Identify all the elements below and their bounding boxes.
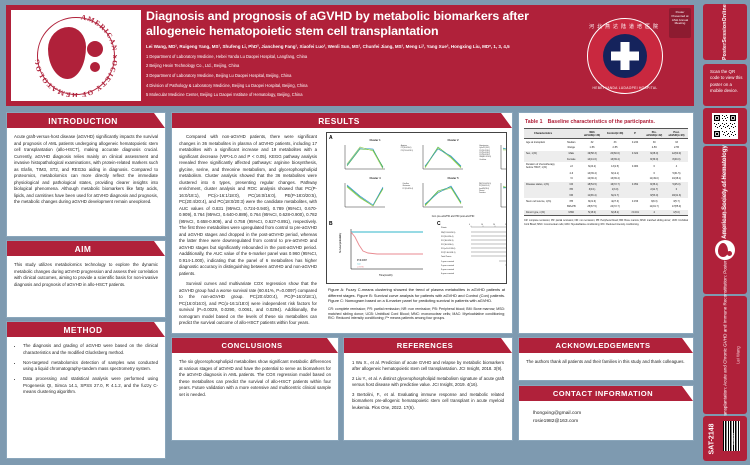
ash-mark-dot-small [90,62,100,72]
introduction-body: Acute graft-versus-host disease (aGVHD) … [7,128,165,212]
legend-entry: PC(20:4/20:4) [402,188,413,190]
conclusions-panel: CONCLUSIONS The six glycerophospholipid … [171,337,339,441]
conclusions-banner: CONCLUSIONS [172,338,338,353]
ash-mark-dot-large [87,41,103,57]
references-panel: REFERENCES 1 Wu X., et al. Prediction of… [343,337,513,441]
cluster-title: Cluster 3 [493,139,507,142]
cluster-chart-4: Cluster 4 Citrulline Glutamine [337,177,413,213]
svg-text:PE(P-18:0/20:5): PE(P-18:0/20:5) [441,232,456,234]
author-list: Lei Wang, MD¹, Ruigeng Yang, MS¹, Shufen… [146,44,546,51]
legend-entry: Carnitine [479,192,491,194]
table-row: Duration of chemotherapy before HSCT, n(… [524,162,688,171]
hospital-cross-disc [603,34,647,78]
conclusions-body: The six glycerophospholipid metabolites … [172,353,338,404]
svg-text:1-year survival: 1-year survival [441,261,455,263]
contact-heading: CONTACT INFORMATION [553,389,653,398]
reference-item: 1 Wu X., et al. Prediction of acute GVHD… [352,360,504,373]
cluster-chart-2: Cluster 2 Hypotaurine LysoPC(18:2) [415,139,491,175]
svg-text:PC(20:4/20:4): PC(20:4/20:4) [441,236,454,238]
cluster-plot-3 [493,143,507,175]
results-figure-area: A Cluster 1 [324,128,512,333]
nomogram-plot: Points PE(P-18:0/20:5) PC(20:4/20:4) PC(… [439,223,507,279]
postersessiononline-badge: PosterSessionOnline [703,4,747,60]
ash-society-logo: AMERICAN SOCIETY OF HEMATOLOGY [11,10,141,101]
svg-text:aGVHD: aGVHD [357,267,365,269]
table-row: Donor type, n(%)MSD5(15.0)6(18.2)<0.0014… [524,210,688,216]
table-col-characteristics: Characteristics [524,129,562,139]
cluster-plot-6 [493,181,507,213]
contact-email-1[interactable]: lhongxing@gmail.com [533,410,679,418]
cell: 5(15.0) [581,210,604,216]
cluster-chart-5: Cluster 5 PE(P-18:0/20:5) PC(18:0/20:3 [415,177,491,213]
cell: 4 [643,210,664,216]
cluster-plot-1 [337,143,389,175]
cell: Duration of chemotherapy before HSCT, n(… [524,162,562,171]
acknowledgements-panel: ACKNOWLEDGEMENTS The authors thank all p… [518,337,694,381]
table-col-control: Control(n=33) [604,129,627,139]
sidebar-session-block: 702. Allogeneic Transplantation: Acute a… [703,296,747,414]
svg-text:Total Points: Total Points [441,255,451,258]
reference-item: 3 Bertolini, F., et al. Evaluating immun… [352,392,504,411]
cluster-legend-5: PE(P-18:0/20:5) PC(18:0/20:3) LysoPE(18:… [479,183,491,194]
legend-entry: PC(P-16:0/18:1) [401,150,413,152]
cell: 6(24.2) [581,162,604,171]
table1: Characteristics With aGVHD(n=33) Control… [524,128,688,216]
table-col-p: P [627,129,644,139]
table-col-post: Post-aGVHD(n=20) [665,129,688,139]
svg-text:Time(month): Time(month) [379,274,393,277]
affiliation-4: 4 Division of Pathology & Laboratory Med… [146,83,546,90]
introduction-panel: INTRODUCTION Acute graft-versus-host dis… [6,112,166,237]
figure-panel: A Cluster 1 [326,132,507,284]
affiliation-5: 5 Molecular Medicine Center, Beijing Lu … [146,92,546,99]
cluster-legend-4: Citrulline Glutamine PC(20:4/20:4) [402,183,413,190]
sidebar-abstract-code-block: SAT-2148 ASH2024 [703,416,747,461]
list-item: The diagnosis and grading of aGVHD were … [23,343,158,356]
affiliation-1: 1 Department of Laboratory Medicine, Heb… [146,54,546,61]
svg-text:Con: Con [357,264,362,266]
survival-curve-chart: Survival probability Time(month) P=0.009… [337,225,429,279]
references-heading: REFERENCES [397,341,453,350]
legend-entry: Ornithine [479,159,491,161]
results-paragraph-1: Compared with non-aGVHD patients, there … [179,134,317,277]
results-text: Compared with non-aGVHD patients, there … [172,128,324,333]
contact-banner: CONTACT INFORMATION [519,386,693,401]
aim-panel: AIM This study utilizes metabolomics tec… [6,240,166,318]
table-col-agvhd: With aGVHD(n=33) [581,129,604,139]
qr-code-container[interactable] [703,108,747,144]
affiliation-3: 3 Department of Laboratory Medicine, Bei… [146,73,546,80]
hospital-name-en: HEBEI YANDA LUDAOPEI HOSPITAL [588,86,662,90]
cluster-chart-grid: Cluster 1 Arginine PC(16:0/16:0) [337,139,507,213]
cell: 6(18.2) [604,210,627,216]
results-panel: RESULTS Compared with non-aGVHD patients… [171,112,513,334]
medical-cross-icon-bar [611,51,639,60]
figure-label-a: A [329,135,333,141]
method-heading: METHOD [64,325,103,335]
figure-label-b: B [329,221,333,227]
cluster-chart-1: Cluster 1 Arginine PC(16:0/16:0) [337,139,413,175]
cell: 6 [643,162,664,171]
cluster-plot-2 [415,143,467,175]
abstract-code: SAT-2148 [709,423,716,454]
publisher-badge: Poster Presented at ASH Annual Meeting [669,8,691,38]
svg-text:P=0.0097: P=0.0097 [357,260,368,262]
cluster-title: Cluster 5 [415,177,491,180]
list-item: Data processing and statistical analysis… [23,376,158,396]
results-heading: RESULTS [318,116,360,126]
ash-seal-icon: AMERICAN SOCIETY OF HEMATOLOGY [35,15,117,97]
reference-item: 2 Liu Y., et al. A distinct glycerophosp… [352,376,504,389]
cell: 4 [665,162,688,171]
cell: <0.001 [627,210,644,216]
table-col-blank [562,129,580,139]
acknowledgements-heading: ACKNOWLEDGEMENTS [556,341,651,350]
svg-text:4-year survival: 4-year survival [441,273,455,275]
svg-text:Points: Points [441,226,447,229]
right-sidebar: PosterSessionOnline Scan the QR code to … [700,0,750,465]
method-panel: METHOD The diagnosis and grading of aGVH… [6,321,166,459]
conclusions-heading: CONCLUSIONS [221,341,282,350]
svg-text:30: 30 [505,224,507,226]
title-block: Diagnosis and prognosis of aGVHD by meta… [146,9,546,99]
cluster-chart-6: Cluster 6 PC(o-16:1/18:0) LysoPC(16:0) [493,177,507,213]
table1-title: Table 1 Baseline characteristics of the … [519,113,693,128]
svg-text:PC(16:0/16:0): PC(16:0/16:0) [441,244,454,246]
svg-text:PC(o-16:1/18:0): PC(o-16:1/18:0) [441,248,456,250]
svg-text:2-year survival: 2-year survival [441,265,455,267]
table1-body: Age at transplantMedian32330.2343033 Ran… [524,139,688,216]
cluster-title: Cluster 6 [493,177,507,180]
aim-heading: AIM [75,244,92,254]
contact-email-2[interactable]: rosie1982@163.com [533,418,679,426]
aim-banner: AIM [7,241,165,256]
cell: 0.084 [627,162,644,171]
references-list: 1 Wu X., et al. Prediction of acute GVHD… [344,353,512,421]
sidebar-ash-tagline: Helping hematologists conquer blood dise… [723,158,727,239]
cluster-title: Cluster 1 [337,139,413,142]
abstract-code-sub: ASH2024 [731,433,735,445]
cluster-legend-2: Hypotaurine LysoPC(18:2) PC(18:2/18:2) P… [479,145,491,161]
contact-body: lhongxing@gmail.com rosie1982@163.com [519,401,693,436]
poster-header: AMERICAN SOCIETY OF HEMATOLOGY Diagnosis… [6,5,694,106]
figure-caption: Figure A: Fuzzy C-means clustering showe… [326,284,507,304]
aim-body: This study utilizes metabolomics technol… [7,256,165,294]
cluster-plot-5 [415,181,467,213]
cluster-legend-1: Arginine PC(16:0/16:0) PC(P-16:0/18:1) [401,145,413,152]
scan-instructions: Scan the QR code to view this poster on … [703,64,747,106]
cluster-title: Cluster 2 [415,139,491,142]
method-list: The diagnosis and grading of aGVHD were … [7,337,165,405]
cluster-title: Cluster 4 [337,177,413,180]
km-plot: Survival probability Time(month) P=0.009… [337,225,429,279]
svg-text:20: 20 [493,224,495,226]
cell: 13(1.5) [604,162,627,171]
poster-title-line2: allogeneic hematopoietic stem cell trans… [146,24,546,39]
contact-panel: CONTACT INFORMATION lhongxing@gmail.com … [518,385,694,441]
acknowledgements-body: The authors thank all patients and their… [519,353,693,372]
results-paragraph-2: Survival curves and multivariate COX reg… [179,281,317,327]
hospital-seal-icon: 河北燕达陆道培医院 HEBEI YANDA LUDAOPEI HOSPITAL [587,18,663,94]
cluster-chart-3: Cluster 3 Glycine Creatine [493,139,507,175]
cell: ≤3 [562,162,580,171]
affiliation-2: 2 Beijing Hexin Technology Co., Ltd., Be… [146,63,546,70]
cluster-x-axis-note: Con pre-aGVHD aGVHD post-aGVHD [337,215,507,218]
table1-footnote: CR: complete remission; PR: partial remi… [519,216,693,229]
hospital-name-cn: 河北燕达陆道培医院 [588,23,662,30]
cell: 1(5.0) [665,210,688,216]
cell: Donor type, n(%) [524,210,562,216]
poster-title-line1: Diagnosis and prognosis of aGVHD by meta… [146,9,546,24]
method-banner: METHOD [7,322,165,337]
table1-panel: Table 1 Baseline characteristics of the … [518,112,694,334]
introduction-banner: INTRODUCTION [7,113,165,128]
sidebar-session-author: Lei Wang [736,346,741,364]
table-col-pre: Pre-aGVHD(n=22) [643,129,664,139]
svg-text:PC(P-16:0/18:1): PC(P-16:0/18:1) [441,252,456,254]
svg-text:PC(18:0/20:3): PC(18:0/20:3) [441,240,454,242]
qr-code-icon[interactable] [712,113,738,139]
poster-root: AMERICAN SOCIETY OF HEMATOLOGY Diagnosis… [0,0,750,465]
svg-text:Survival probability: Survival probability [339,232,342,253]
figure-abbreviations: CR: complete remission; PR: partial remi… [326,304,507,322]
postersessiononline-label: PosterSessionOnline [722,4,728,60]
results-banner: RESULTS [172,113,512,128]
references-banner: REFERENCES [344,338,512,353]
list-item: Non-targeted metabolomics detection of s… [23,360,158,373]
svg-text:10: 10 [481,224,483,226]
table-header-row: Characteristics With aGVHD(n=33) Control… [524,129,688,139]
introduction-heading: INTRODUCTION [48,116,118,126]
svg-text:0: 0 [469,224,470,226]
cluster-plot-4 [337,181,389,213]
svg-text:3-year survival: 3-year survival [441,269,455,271]
cell: MSD [562,210,580,216]
nomogram-chart: Points PE(P-18:0/20:5) PC(20:4/20:4) PC(… [439,223,507,279]
acknowledgements-banner: ACKNOWLEDGEMENTS [519,338,693,353]
